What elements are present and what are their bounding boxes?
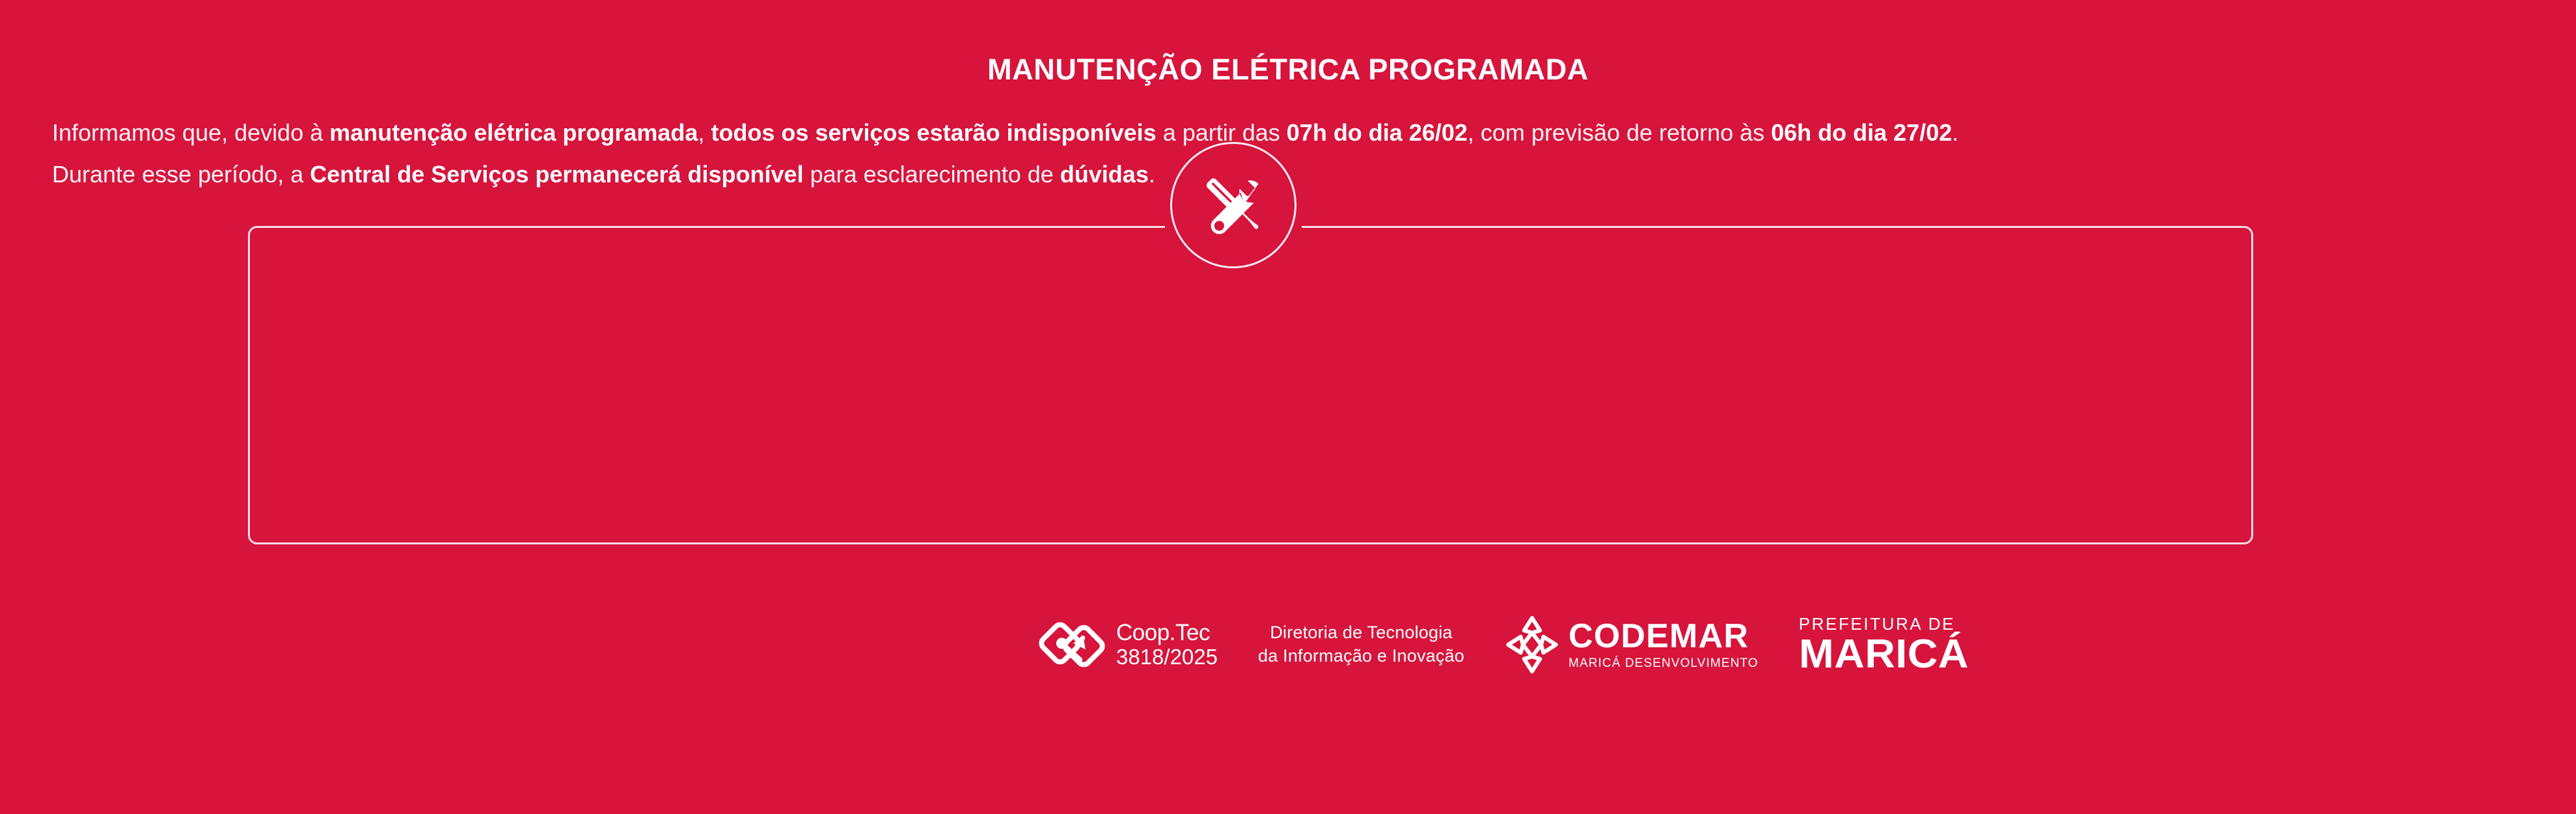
p2-seg1: Durante esse período, a <box>52 161 310 188</box>
p2-seg2: para esclarecimento de <box>804 161 1060 188</box>
p1-seg4: , com previsão de retorno às <box>1468 119 1771 146</box>
p1-strong3: 07h do dia 26/02 <box>1287 119 1468 146</box>
maintenance-banner: MANUTENÇÃO ELÉTRICA PROGRAMADA Informamo… <box>0 0 2576 814</box>
page-title: MANUTENÇÃO ELÉTRICA PROGRAMADA <box>52 55 2524 84</box>
notice-paragraph-2: Durante esse período, a Central de Servi… <box>52 156 2524 193</box>
p1-strong2: todos os serviços estarão indisponíveis <box>711 119 1156 146</box>
p1-seg5: . <box>1952 119 1958 146</box>
p1-seg1: Informamos que, devido à <box>52 119 329 146</box>
p1-strong4: 06h do dia 27/02 <box>1771 119 1952 146</box>
p1-seg2: , <box>698 119 711 146</box>
p1-seg3: a partir das <box>1157 119 1287 146</box>
card-content: MANUTENÇÃO ELÉTRICA PROGRAMADA Informamo… <box>0 0 2576 814</box>
p2-strong2: dúvidas <box>1060 161 1149 188</box>
notice-paragraph-1: Informamos que, devido à manutenção elét… <box>52 114 2524 152</box>
p2-seg3: . <box>1149 161 1155 188</box>
p2-strong1: Central de Serviços permanecerá disponív… <box>310 161 803 188</box>
p1-strong1: manutenção elétrica programada <box>329 119 698 146</box>
